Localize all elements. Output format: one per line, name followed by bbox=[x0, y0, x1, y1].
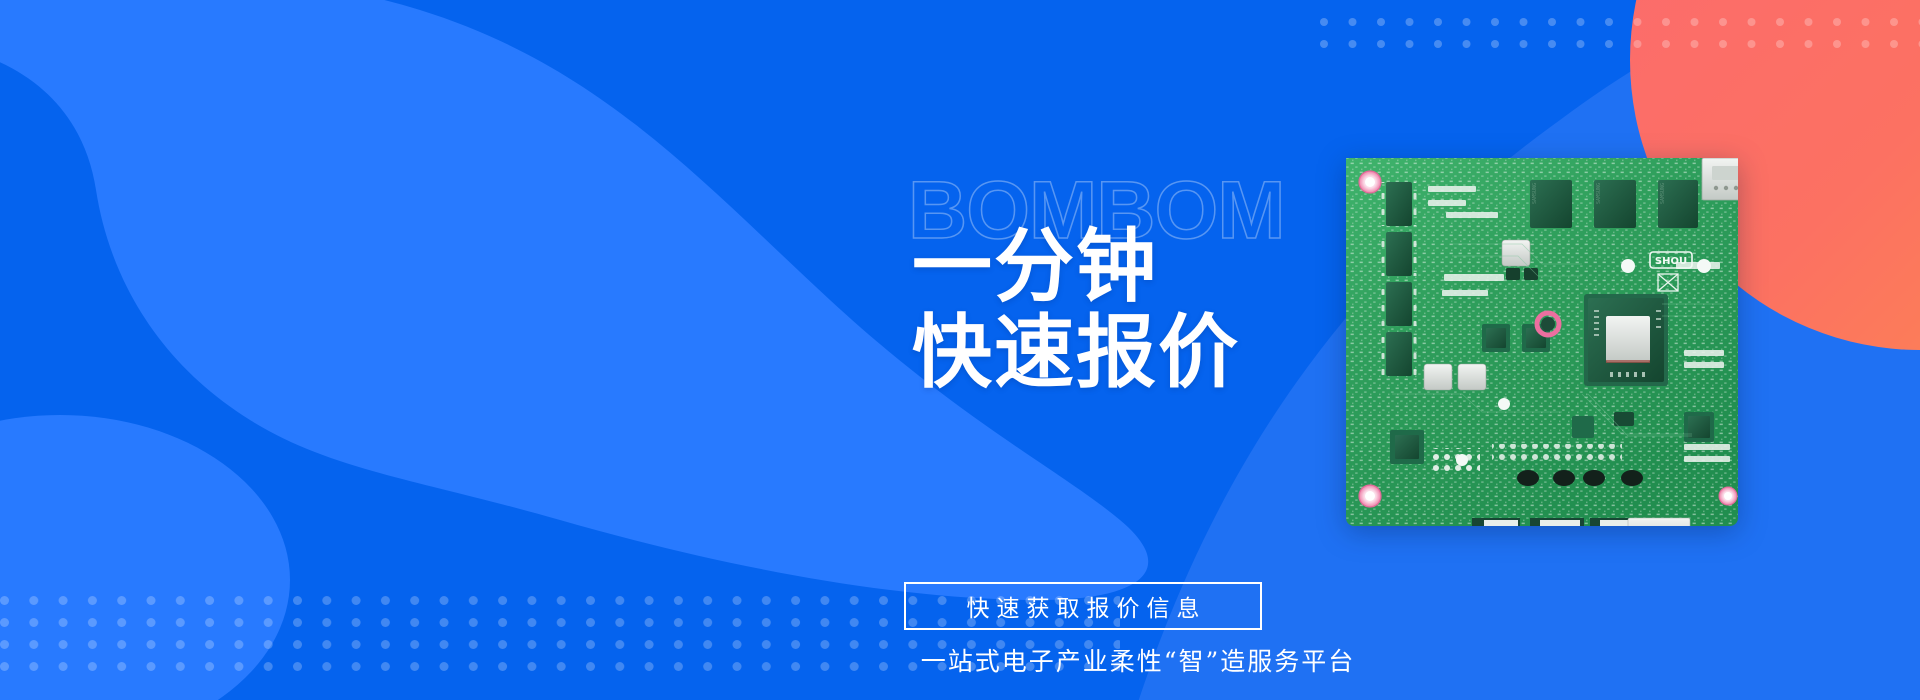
pcb-usb-shield bbox=[1702, 158, 1752, 200]
svg-text:SAMSUNG: SAMSUNG bbox=[1596, 183, 1602, 204]
svg-text:SAMSUNG: SAMSUNG bbox=[1532, 183, 1538, 204]
cta-badge[interactable]: 快速获取报价信息 bbox=[904, 582, 1262, 630]
cta-badge-label: 快速获取报价信息 bbox=[960, 589, 1207, 623]
svg-text:SHOU: SHOU bbox=[1655, 256, 1687, 267]
promo-banner: BOMBOM 一分钟 快速报价 快速获取报价信息 一站式电子产业柔性“智”造服务… bbox=[0, 0, 1920, 700]
headline-group: 一分钟 快速报价 bbox=[912, 226, 1432, 393]
pcb-main-processor bbox=[1584, 294, 1668, 386]
pcb-bottom-connectors bbox=[1472, 518, 1690, 546]
svg-text:SAMSUNG: SAMSUNG bbox=[1660, 183, 1666, 204]
headline-line-1: 一分钟 bbox=[912, 226, 1432, 308]
headline-line-2: 快速报价 bbox=[912, 312, 1432, 394]
tagline-text: 一站式电子产业柔性“智”造服务平台 bbox=[828, 642, 1448, 678]
pcb-ddr-chips: SAMSUNG SAMSUNG SAMSUNG bbox=[1530, 180, 1698, 228]
promo-text-block: BOMBOM 一分钟 快速报价 快速获取报价信息 一站式电子产业柔性“智”造服务… bbox=[890, 170, 1450, 510]
dot-grid-top-right bbox=[1320, 18, 1920, 58]
